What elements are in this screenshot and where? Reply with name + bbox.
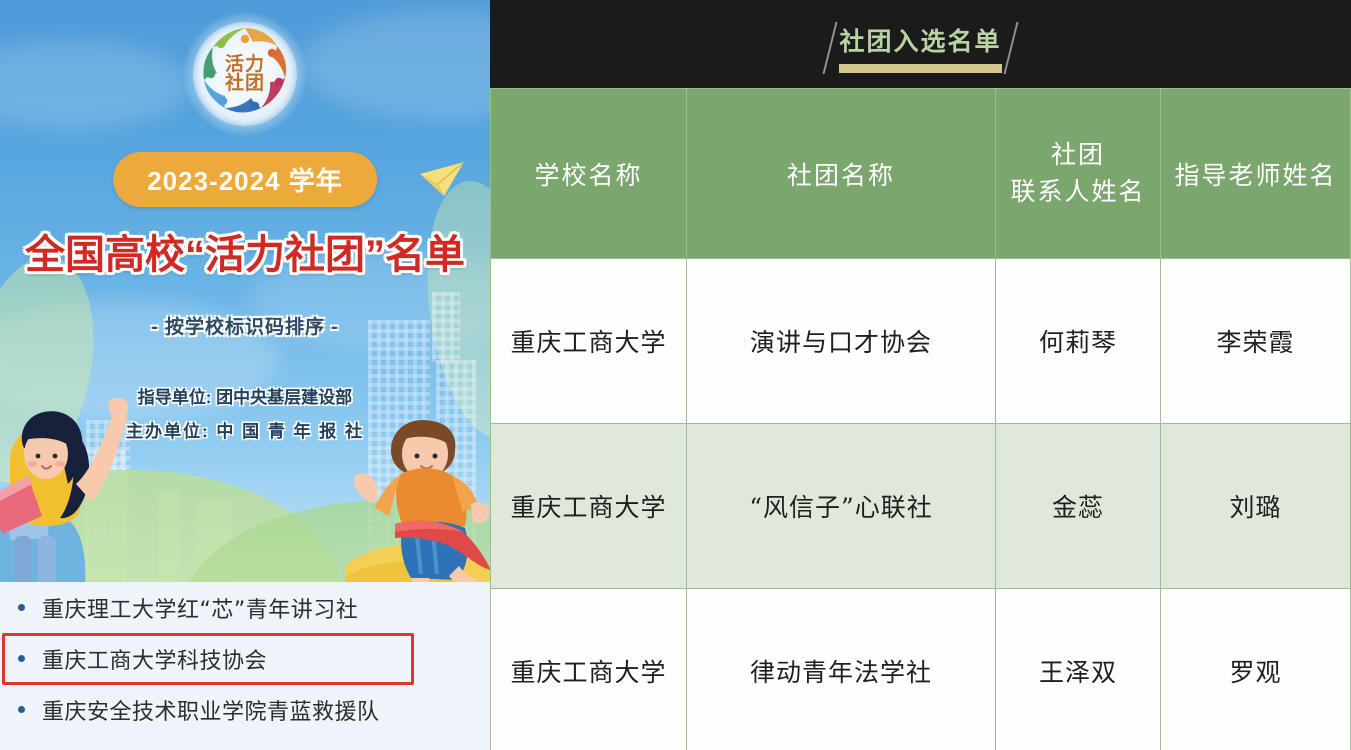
girl-illustration (0, 388, 168, 603)
cell-school: 重庆工商大学 (491, 589, 687, 750)
poster-panel: 活力 社团 2023-2024 学年 全国高校“活力社团”名单 - 按学校标识码… (0, 0, 490, 750)
logo-text: 活力 社团 (193, 22, 297, 126)
column-header-teacher: 指导老师姓名 (1161, 89, 1351, 259)
table-row[interactable]: 重庆工商大学 演讲与口才协会 何莉琴 李荣霞 (491, 259, 1351, 424)
boy-illustration (345, 408, 490, 608)
club-list-table: 学校名称 社团名称 社团 联系人姓名 指导老师姓名 (490, 88, 1351, 750)
year-badge: 2023-2024 学年 (113, 152, 377, 207)
cloud-decoration (300, 10, 490, 120)
column-header-contact: 社团 联系人姓名 (996, 89, 1161, 259)
logo-text-line2: 社团 (225, 74, 265, 93)
column-header-teacher-label: 指导老师姓名 (1174, 161, 1336, 190)
cell-contact: 金蕊 (996, 424, 1161, 589)
column-header-contact-line2: 联系人姓名 (996, 174, 1160, 210)
list-item[interactable]: 重庆工商大学科技协会 (0, 633, 490, 684)
list-item-label: 重庆理工大学红“芯”青年讲习社 (42, 592, 358, 624)
poster-main-title: 全国高校“活力社团”名单 (0, 222, 490, 280)
cell-school: 重庆工商大学 (491, 259, 687, 424)
huoli-shetuan-logo: 活力 社团 (193, 22, 297, 126)
column-header-club-label: 社团名称 (787, 161, 895, 190)
cell-contact: 何莉琴 (996, 259, 1161, 424)
document-header: 社团入选名单 (490, 0, 1351, 88)
list-item[interactable]: 重庆理工大学红“芯”青年讲习社 (0, 582, 490, 633)
table-row[interactable]: 重庆工商大学 “风信子”心联社 金蕊 刘璐 (491, 424, 1351, 589)
right-slash-decoration (1003, 22, 1018, 74)
cloud-decoration (0, 40, 190, 130)
page-title: 社团入选名单 (839, 22, 1001, 58)
poster-sort-note: - 按学校标识码排序 - (0, 312, 490, 339)
cell-teacher: 李荣霞 (1161, 259, 1351, 424)
highlight-list-panel: 重庆理工大学红“芯”青年讲习社 重庆工商大学科技协会 重庆安全技术职业学院青蓝救… (0, 582, 490, 750)
cell-school: 重庆工商大学 (491, 424, 687, 589)
title-underline-bar (839, 64, 1001, 73)
cell-club: “风信子”心联社 (687, 424, 996, 589)
table-body: 重庆工商大学 演讲与口才协会 何莉琴 李荣霞 重庆工商大学 “风信子”心联社 金… (491, 259, 1351, 750)
bullet-icon (18, 604, 25, 611)
table-panel: 社团入选名单 学校名称 社团名称 (490, 0, 1351, 750)
title-core: 社团入选名单 (839, 22, 1001, 73)
cell-teacher: 罗观 (1161, 589, 1351, 750)
column-header-school: 学校名称 (491, 89, 687, 259)
list-item-label: 重庆安全技术职业学院青蓝救援队 (42, 694, 380, 726)
list-item[interactable]: 重庆安全技术职业学院青蓝救援队 (0, 684, 490, 735)
column-header-contact-line1: 社团 (996, 137, 1160, 173)
bullet-icon (18, 706, 25, 713)
table-header-row: 学校名称 社团名称 社团 联系人姓名 指导老师姓名 (491, 89, 1351, 259)
cell-club: 律动青年法学社 (687, 589, 996, 750)
column-header-school-label: 学校名称 (534, 161, 642, 190)
cell-club: 演讲与口才协会 (687, 259, 996, 424)
left-slash-decoration (823, 22, 838, 74)
list-item-label: 重庆工商大学科技协会 (42, 643, 267, 675)
column-header-club: 社团名称 (687, 89, 996, 259)
cell-teacher: 刘璐 (1161, 424, 1351, 589)
cell-contact: 王泽双 (996, 589, 1161, 750)
table-row[interactable]: 重庆工商大学 律动青年法学社 王泽双 罗观 (491, 589, 1351, 750)
bullet-icon (18, 655, 25, 662)
title-assembly: 社团入选名单 (829, 14, 1011, 74)
